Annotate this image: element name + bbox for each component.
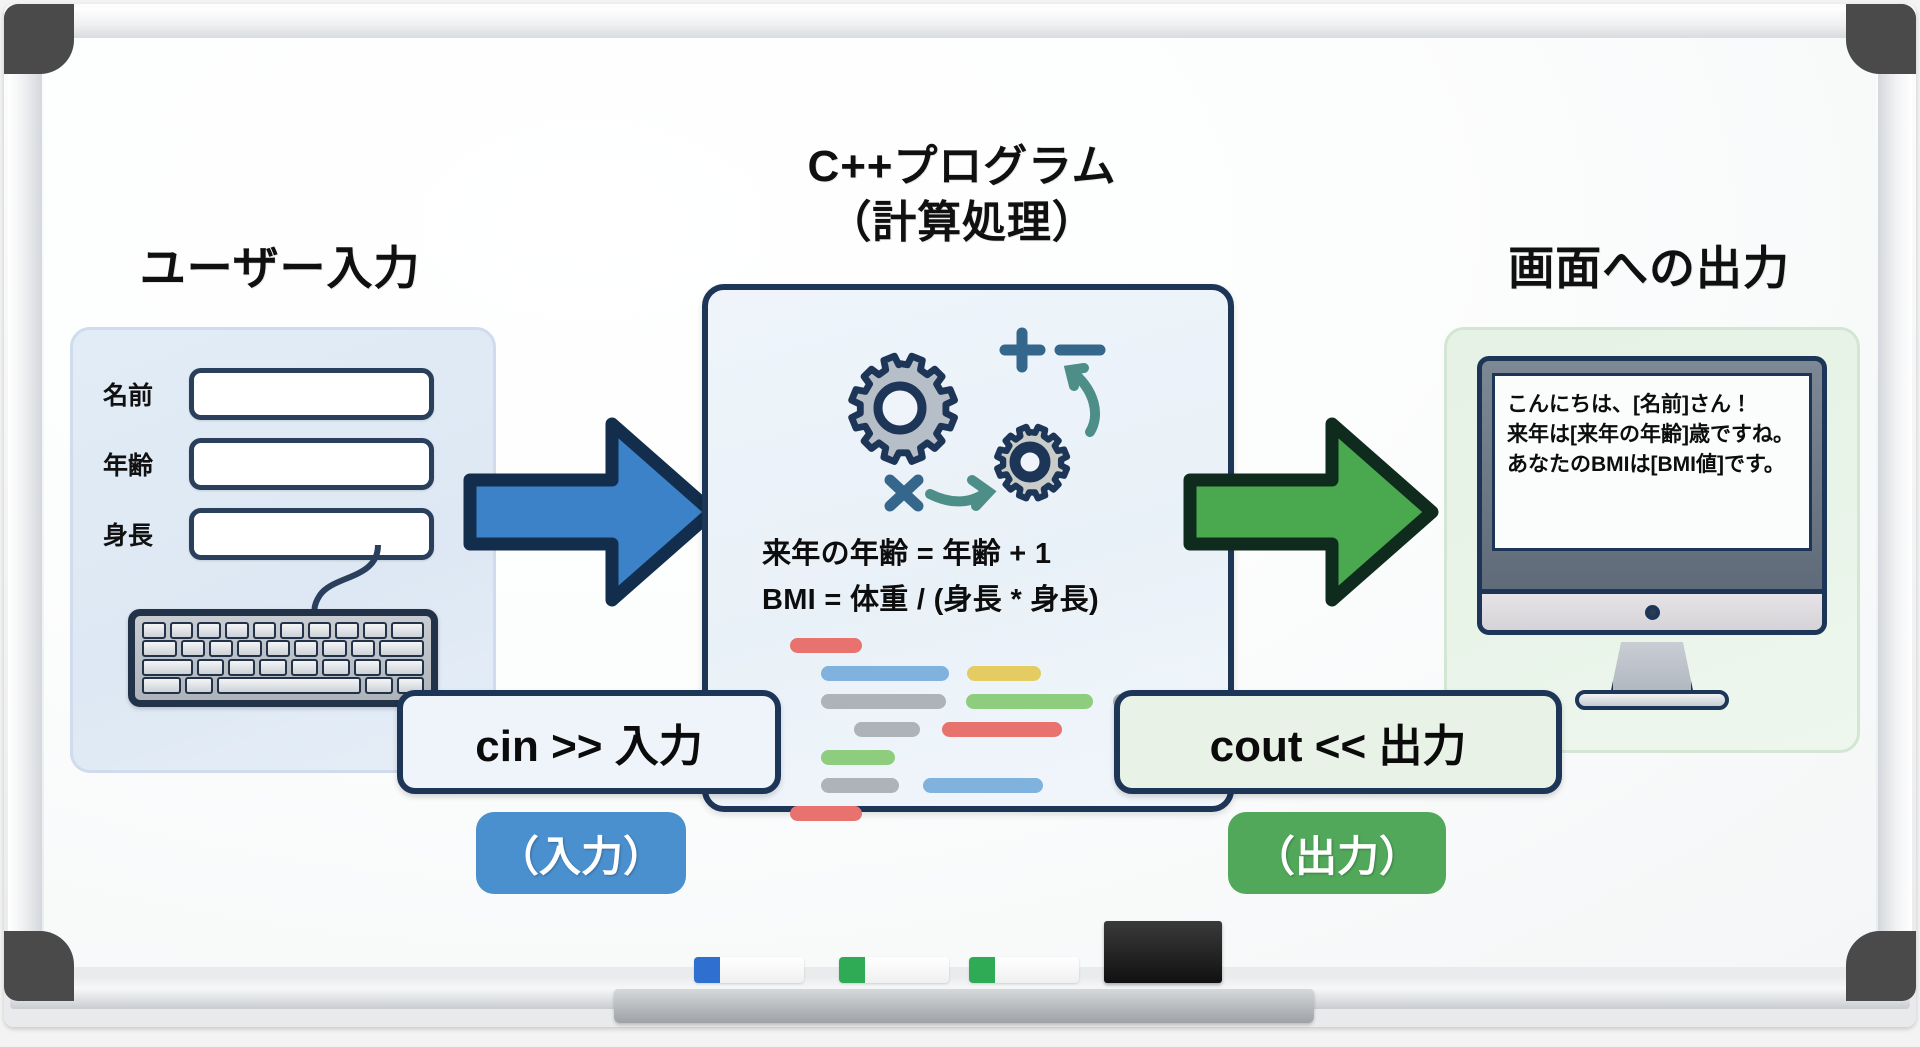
keyboard-key-space xyxy=(217,677,362,694)
screen-line-3: あなたのBMIは[BMI値]です。 xyxy=(1507,450,1797,480)
formula-line-1: 来年の年齢 = 年齢 + 1 xyxy=(762,530,1051,572)
keyboard-key xyxy=(322,640,346,657)
code-line xyxy=(766,666,1166,681)
code-bar xyxy=(821,778,899,793)
keyboard-key xyxy=(385,659,424,676)
code-line xyxy=(766,722,1166,737)
screen-line-1: こんにちは、[名前]さん！ xyxy=(1507,390,1797,420)
diagram-canvas: ユーザー入力 名前 年齢 身長 xyxy=(0,0,1920,1047)
code-line xyxy=(766,694,1166,709)
monitor-screen: こんにちは、[名前]さん！ 来年は[来年の年齢]歳ですね。 あなたのBMIは[B… xyxy=(1492,373,1812,551)
code-bar xyxy=(942,722,1062,737)
keyboard-key xyxy=(259,659,286,676)
keyboard-cable-icon xyxy=(300,545,390,617)
plus-operator-icon xyxy=(1005,333,1040,367)
field-label-name: 名前 xyxy=(103,376,175,412)
formula-line-2: BMI = 体重 / (身長 * 身長) xyxy=(762,576,1099,618)
monitor-chin xyxy=(1477,589,1827,635)
keyboard-key xyxy=(170,622,194,639)
keyboard-key xyxy=(237,640,261,657)
center-column-title-line2: （計算処理） xyxy=(702,186,1222,250)
keyboard-row xyxy=(142,677,424,694)
code-line xyxy=(766,778,1166,793)
code-bar xyxy=(854,722,920,737)
keyboard-key-alt xyxy=(185,677,212,694)
code-bar xyxy=(790,806,862,821)
code-lines-illustration xyxy=(766,638,1166,834)
keyboard-key xyxy=(308,622,332,639)
cout-badge: （出力） xyxy=(1228,812,1446,894)
keyboard-row xyxy=(142,659,424,676)
cout-callout[interactable]: cout << 出力 xyxy=(1114,690,1562,794)
field-row-age: 年齢 xyxy=(103,438,434,490)
keyboard-row xyxy=(142,622,424,639)
keyboard-row xyxy=(142,640,424,657)
keyboard-key xyxy=(280,622,304,639)
monitor-stand-base xyxy=(1575,690,1729,710)
keyboard-key xyxy=(322,659,349,676)
code-bar xyxy=(821,750,895,765)
keyboard-key-shift xyxy=(142,659,193,676)
cin-callout[interactable]: cin >> 入力 xyxy=(397,690,781,794)
input-arrow xyxy=(462,408,722,616)
power-indicator-icon xyxy=(1645,605,1660,620)
code-line xyxy=(766,750,1166,765)
monitor-icon: こんにちは、[名前]さん！ 来年は[来年の年齢]歳ですね。 あなたのBMIは[B… xyxy=(1477,356,1827,594)
keyboard-key xyxy=(363,622,387,639)
keyboard-icon xyxy=(128,609,438,707)
output-arrow xyxy=(1182,408,1442,616)
code-bar xyxy=(790,638,862,653)
keyboard-key xyxy=(197,622,221,639)
keyboard-key xyxy=(209,640,233,657)
name-input[interactable] xyxy=(189,368,434,420)
gears-icon xyxy=(808,316,1128,516)
keyboard-key xyxy=(142,640,177,657)
code-line xyxy=(766,806,1166,821)
times-operator-icon xyxy=(890,480,918,506)
keyboard-key xyxy=(351,640,375,657)
keyboard-key xyxy=(142,622,166,639)
keyboard-key xyxy=(225,622,249,639)
keyboard-key xyxy=(181,640,205,657)
right-column-title: 画面への出力 xyxy=(1444,232,1854,298)
cin-badge: （入力） xyxy=(476,812,686,894)
keyboard-key xyxy=(228,659,255,676)
code-bar xyxy=(821,666,949,681)
keyboard-key xyxy=(354,659,381,676)
keyboard-key xyxy=(253,622,277,639)
keyboard-key-enter xyxy=(379,640,424,657)
keyboard-key xyxy=(391,622,424,639)
keyboard-key xyxy=(197,659,224,676)
code-bar xyxy=(821,694,946,709)
center-column-title-line1: C++プログラム xyxy=(702,130,1222,194)
field-label-age: 年齢 xyxy=(103,446,175,482)
code-bar xyxy=(967,666,1041,681)
code-bar xyxy=(923,778,1043,793)
age-input[interactable] xyxy=(189,438,434,490)
keyboard-key xyxy=(294,640,318,657)
code-bar xyxy=(966,694,1093,709)
field-label-height: 身長 xyxy=(103,516,175,552)
keyboard-key-ctrl xyxy=(142,677,181,694)
keyboard-key xyxy=(365,677,392,694)
screen-line-2: 来年は[来年の年齢]歳ですね。 xyxy=(1507,420,1797,450)
keyboard-key xyxy=(291,659,318,676)
keyboard-key xyxy=(266,640,290,657)
left-column-title: ユーザー入力 xyxy=(70,232,490,298)
field-row-name: 名前 xyxy=(103,368,434,420)
code-line xyxy=(766,638,1166,653)
keyboard-key xyxy=(335,622,359,639)
